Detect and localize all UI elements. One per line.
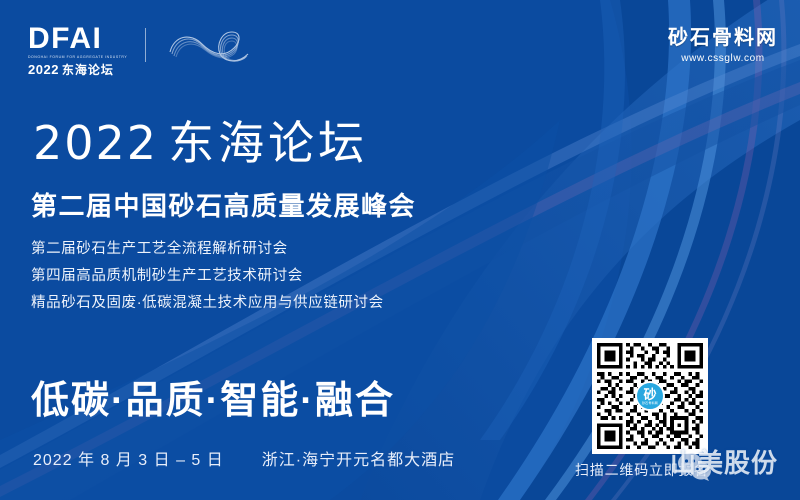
event-meta: 2022 年 8 月 3 日 – 5 日浙江·海宁开元名都大酒店 <box>33 450 455 472</box>
qr-center-glyph: 砂 <box>643 388 656 401</box>
wave-ribbon-icon <box>164 24 256 68</box>
site-brand-name: 砂石骨料网 <box>668 26 778 50</box>
event-date: 2022 年 8 月 3 日 – 5 日 <box>33 452 224 469</box>
title-year: 2022 <box>33 116 158 170</box>
site-brand-url: www.cssglw.com <box>668 53 778 64</box>
page-subtitle: 第二届中国砂石高质量发展峰会 <box>31 190 416 222</box>
list-item: 精品砂石及固废·低碳混凝土技术应用与供应链研讨会 <box>31 290 384 317</box>
event-poster: DFAI DONGHAI FORUM FOR AGGREGATE INDUSTR… <box>0 0 800 500</box>
qr-code[interactable]: 砂 砂石骨料网 <box>592 338 708 454</box>
event-slogan: 低碳·品质·智能·融合 <box>31 378 395 424</box>
dfai-year-line: 2022东海论坛 <box>28 62 134 78</box>
event-venue: 浙江·海宁开元名都大酒店 <box>262 452 455 469</box>
list-item: 第四届高品质机制砂生产工艺技术研讨会 <box>31 263 384 290</box>
page-title: 2022东海论坛 <box>33 117 368 169</box>
list-item: 第二届砂石生产工艺全流程解析研讨会 <box>31 236 384 263</box>
qr-center-logo: 砂 砂石骨料网 <box>635 381 665 411</box>
poster-header: DFAI DONGHAI FORUM FOR AGGREGATE INDUSTR… <box>0 0 800 90</box>
registration-qr-block: 砂 砂石骨料网 扫描二维码立即报名 <box>592 338 708 454</box>
watermark: 山美股份 <box>670 443 778 480</box>
site-brand: 砂石骨料网 www.cssglw.com <box>668 26 778 64</box>
dfai-tagline: DONGHAI FORUM FOR AGGREGATE INDUSTRY <box>28 54 136 60</box>
session-list: 第二届砂石生产工艺全流程解析研讨会 第四届高品质机制砂生产工艺技术研讨会 精品砂… <box>31 236 384 317</box>
qr-center-sublabel: 砂石骨料网 <box>642 401 658 405</box>
dfai-year: 2022 <box>28 62 59 77</box>
logo-divider <box>145 28 146 62</box>
dfai-wordmark: DFAI <box>28 24 134 54</box>
title-cn: 东海论坛 <box>168 116 368 170</box>
dfai-year-cn: 东海论坛 <box>62 63 114 77</box>
dfai-logo: DFAI DONGHAI FORUM FOR AGGREGATE INDUSTR… <box>28 24 134 78</box>
